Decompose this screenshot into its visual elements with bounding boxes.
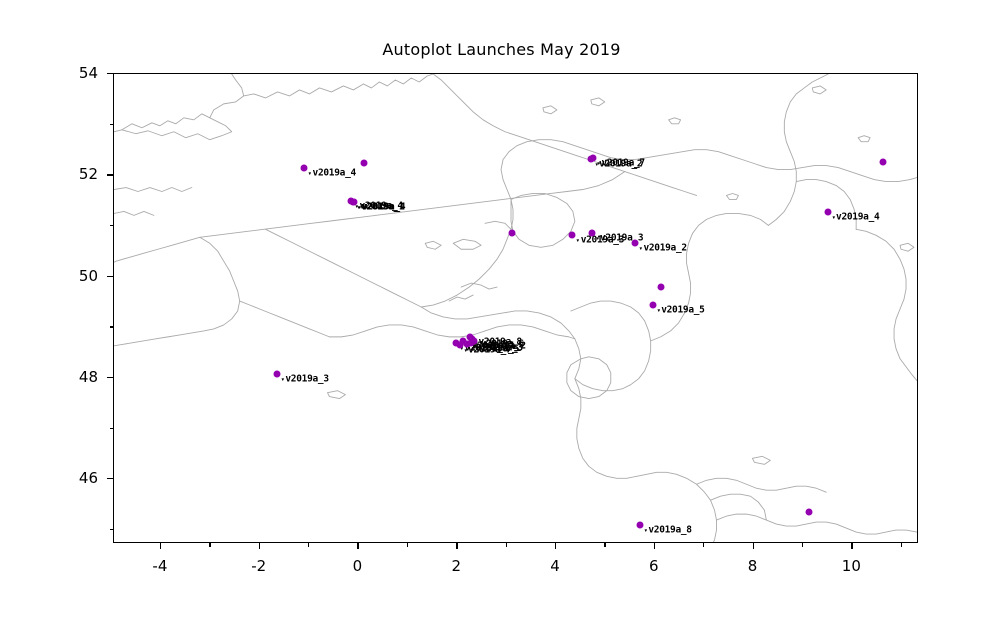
x-tick-minor [308, 543, 309, 547]
data-point-marker [806, 509, 813, 516]
x-tick-minor [703, 543, 704, 547]
page-title: Autoplot Launches May 2019 [0, 40, 1003, 59]
data-point-label: ▾v2019a_3 [280, 375, 329, 385]
y-tick-major [107, 377, 113, 378]
x-tick-minor [604, 543, 605, 547]
y-tick-major [107, 174, 113, 175]
y-tick-major [107, 73, 113, 74]
x-tick-minor [901, 543, 902, 547]
data-point-label: ▾v2019a_4 [357, 202, 406, 212]
x-tick-major [160, 543, 161, 549]
x-tick-label: 2 [451, 557, 461, 575]
x-tick-minor [506, 543, 507, 547]
x-tick-label: 8 [748, 557, 758, 575]
x-tick-major [456, 543, 457, 549]
x-tick-label: 10 [842, 557, 861, 575]
x-tick-major [259, 543, 260, 549]
y-tick-label: 46 [0, 469, 98, 487]
x-tick-major [851, 543, 852, 549]
y-tick-minor [110, 529, 114, 530]
y-tick-minor [110, 225, 114, 226]
x-tick-major [654, 543, 655, 549]
y-tick-minor [110, 326, 114, 327]
data-point-label: ▾v2019a_8 [643, 525, 692, 535]
plot-area[interactable]: ▾v2019a_4▾v2019a_4▾v2019a_1▾v2019a_4▾v20… [113, 73, 918, 543]
x-tick-label: -4 [152, 557, 167, 575]
x-tick-label: 4 [550, 557, 560, 575]
data-point-marker [361, 159, 368, 166]
x-tick-major [555, 543, 556, 549]
y-tick-major [107, 276, 113, 277]
y-tick-label: 50 [0, 267, 98, 285]
y-tick-major [107, 478, 113, 479]
data-point-label: ▾v2019a_2 [594, 159, 643, 169]
data-point-label: ▾v2019a_7 [463, 346, 512, 356]
figure-canvas: Autoplot Launches May 2019 [0, 0, 1003, 633]
basemap-coastlines [114, 74, 917, 542]
x-tick-label: 0 [353, 557, 363, 575]
x-tick-major [753, 543, 754, 549]
y-tick-minor [110, 124, 114, 125]
y-tick-label: 48 [0, 368, 98, 386]
x-tick-label: -2 [251, 557, 266, 575]
x-tick-major [357, 543, 358, 549]
data-point-marker [508, 229, 515, 236]
data-point-label: ▾v2019a_4 [307, 168, 356, 178]
y-tick-minor [110, 428, 114, 429]
data-point-marker [657, 283, 664, 290]
y-tick-label: 52 [0, 165, 98, 183]
x-tick-minor [209, 543, 210, 547]
x-tick-label: 6 [649, 557, 659, 575]
y-tick-label: 54 [0, 64, 98, 82]
data-point-label: ▾v2019a_5 [656, 306, 705, 316]
x-tick-minor [407, 543, 408, 547]
data-point-marker [879, 158, 886, 165]
data-point-label: ▾v2019a_2 [638, 243, 687, 253]
x-tick-minor [802, 543, 803, 547]
data-point-label: ▾v2019a_4 [831, 213, 880, 223]
